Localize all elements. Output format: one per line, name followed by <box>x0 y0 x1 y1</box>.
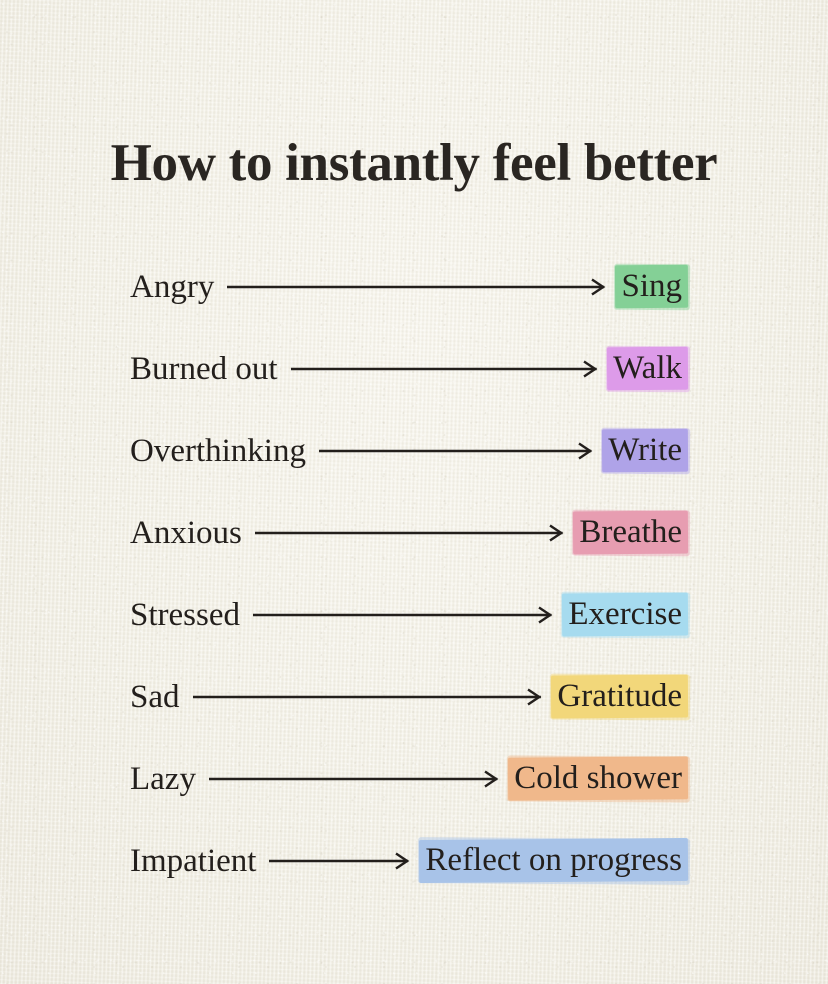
arrow-right-icon <box>319 442 591 460</box>
action-highlight: Gratitude <box>551 673 688 721</box>
feeling-label: Anxious <box>130 512 255 554</box>
action-label: Reflect on progress <box>425 842 682 878</box>
action-label: Exercise <box>568 596 682 632</box>
action-label: Sing <box>621 268 682 304</box>
feeling-label: Lazy <box>130 758 209 800</box>
feeling-label: Burned out <box>130 348 291 390</box>
arrow-right-icon <box>193 688 541 706</box>
action-label: Write <box>608 432 682 468</box>
action-highlight: Breathe <box>573 509 688 557</box>
list-item: StressedExercise <box>130 574 688 656</box>
list-item: SadGratitude <box>130 656 688 738</box>
page-title: How to instantly feel better <box>0 132 828 194</box>
arrow-right-icon <box>209 770 497 788</box>
feeling-label: Overthinking <box>130 430 319 472</box>
arrow-right-icon <box>227 278 604 296</box>
action-highlight: Write <box>602 427 688 475</box>
arrow-right-icon <box>255 524 563 542</box>
action-label: Cold shower <box>514 760 682 796</box>
action-label: Breathe <box>579 514 682 550</box>
action-label: Gratitude <box>557 678 682 714</box>
action-highlight: Walk <box>607 345 688 393</box>
feeling-action-list: AngrySingBurned outWalkOverthinkingWrite… <box>130 246 688 902</box>
arrow-right-icon <box>291 360 597 378</box>
list-item: Burned outWalk <box>130 328 688 410</box>
list-item: OverthinkingWrite <box>130 410 688 492</box>
feeling-label: Stressed <box>130 594 253 636</box>
arrow-right-icon <box>269 852 408 870</box>
feeling-label: Impatient <box>130 840 269 882</box>
list-item: ImpatientReflect on progress <box>130 820 688 902</box>
list-item: AngrySing <box>130 246 688 328</box>
action-highlight: Exercise <box>562 591 688 639</box>
feeling-label: Sad <box>130 676 193 718</box>
action-highlight: Reflect on progress <box>419 837 688 885</box>
arrow-right-icon <box>253 606 551 624</box>
action-highlight: Sing <box>615 263 688 311</box>
feeling-label: Angry <box>130 266 227 308</box>
action-label: Walk <box>613 350 682 386</box>
action-highlight: Cold shower <box>508 755 688 803</box>
poster-canvas: How to instantly feel better AngrySingBu… <box>0 0 828 984</box>
list-item: LazyCold shower <box>130 738 688 820</box>
list-item: AnxiousBreathe <box>130 492 688 574</box>
